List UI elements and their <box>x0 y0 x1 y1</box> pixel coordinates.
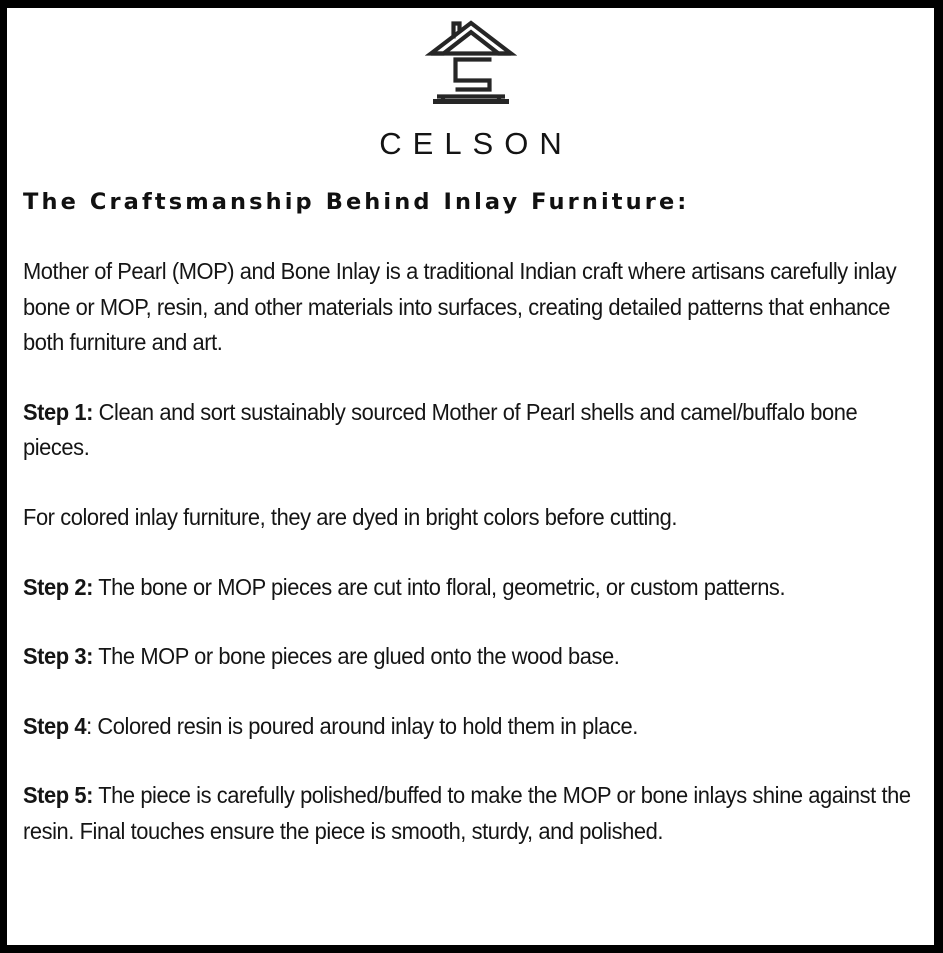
paragraph-step-3: Step 3: The MOP or bone pieces are glued… <box>23 639 920 675</box>
step-label: Step 3: <box>23 643 93 669</box>
step-label: Step 1: <box>23 399 93 425</box>
body-content: Mother of Pearl (MOP) and Bone Inlay is … <box>23 254 920 850</box>
brand-name: CELSON <box>16 128 925 159</box>
step-label: Step 2: <box>23 574 93 600</box>
paragraph-step-4: Step 4: Colored resin is poured around i… <box>23 709 920 745</box>
page-title: The Craftsmanship Behind Inlay Furniture… <box>16 190 689 215</box>
paragraph-note-dye: For colored inlay furniture, they are dy… <box>23 500 920 536</box>
paragraph-text: The bone or MOP pieces are cut into flor… <box>93 574 785 600</box>
paragraph-text: For colored inlay furniture, they are dy… <box>23 504 677 530</box>
brand-block: CELSON <box>16 8 925 159</box>
paragraph-text: Mother of Pearl (MOP) and Bone Inlay is … <box>23 258 896 355</box>
poster-card: CELSON The Craftsmanship Behind Inlay Fu… <box>0 0 943 953</box>
paragraph-text: The piece is carefully polished/buffed t… <box>23 782 911 844</box>
house-monogram-icon <box>425 16 517 112</box>
step-label: Step 5: <box>23 782 93 808</box>
step-label: Step 4 <box>23 713 86 739</box>
poster-inner: CELSON The Craftsmanship Behind Inlay Fu… <box>7 8 934 945</box>
paragraph-step-2: Step 2: The bone or MOP pieces are cut i… <box>23 570 920 606</box>
paragraph-step-1: Step 1: Clean and sort sustainably sourc… <box>23 395 920 466</box>
paragraph-step-5: Step 5: The piece is carefully polished/… <box>23 778 920 849</box>
paragraph-text: Clean and sort sustainably sourced Mothe… <box>23 399 857 461</box>
paragraph-text: The MOP or bone pieces are glued onto th… <box>93 643 619 669</box>
paragraph-intro: Mother of Pearl (MOP) and Bone Inlay is … <box>23 254 920 361</box>
paragraph-text: : Colored resin is poured around inlay t… <box>86 713 638 739</box>
